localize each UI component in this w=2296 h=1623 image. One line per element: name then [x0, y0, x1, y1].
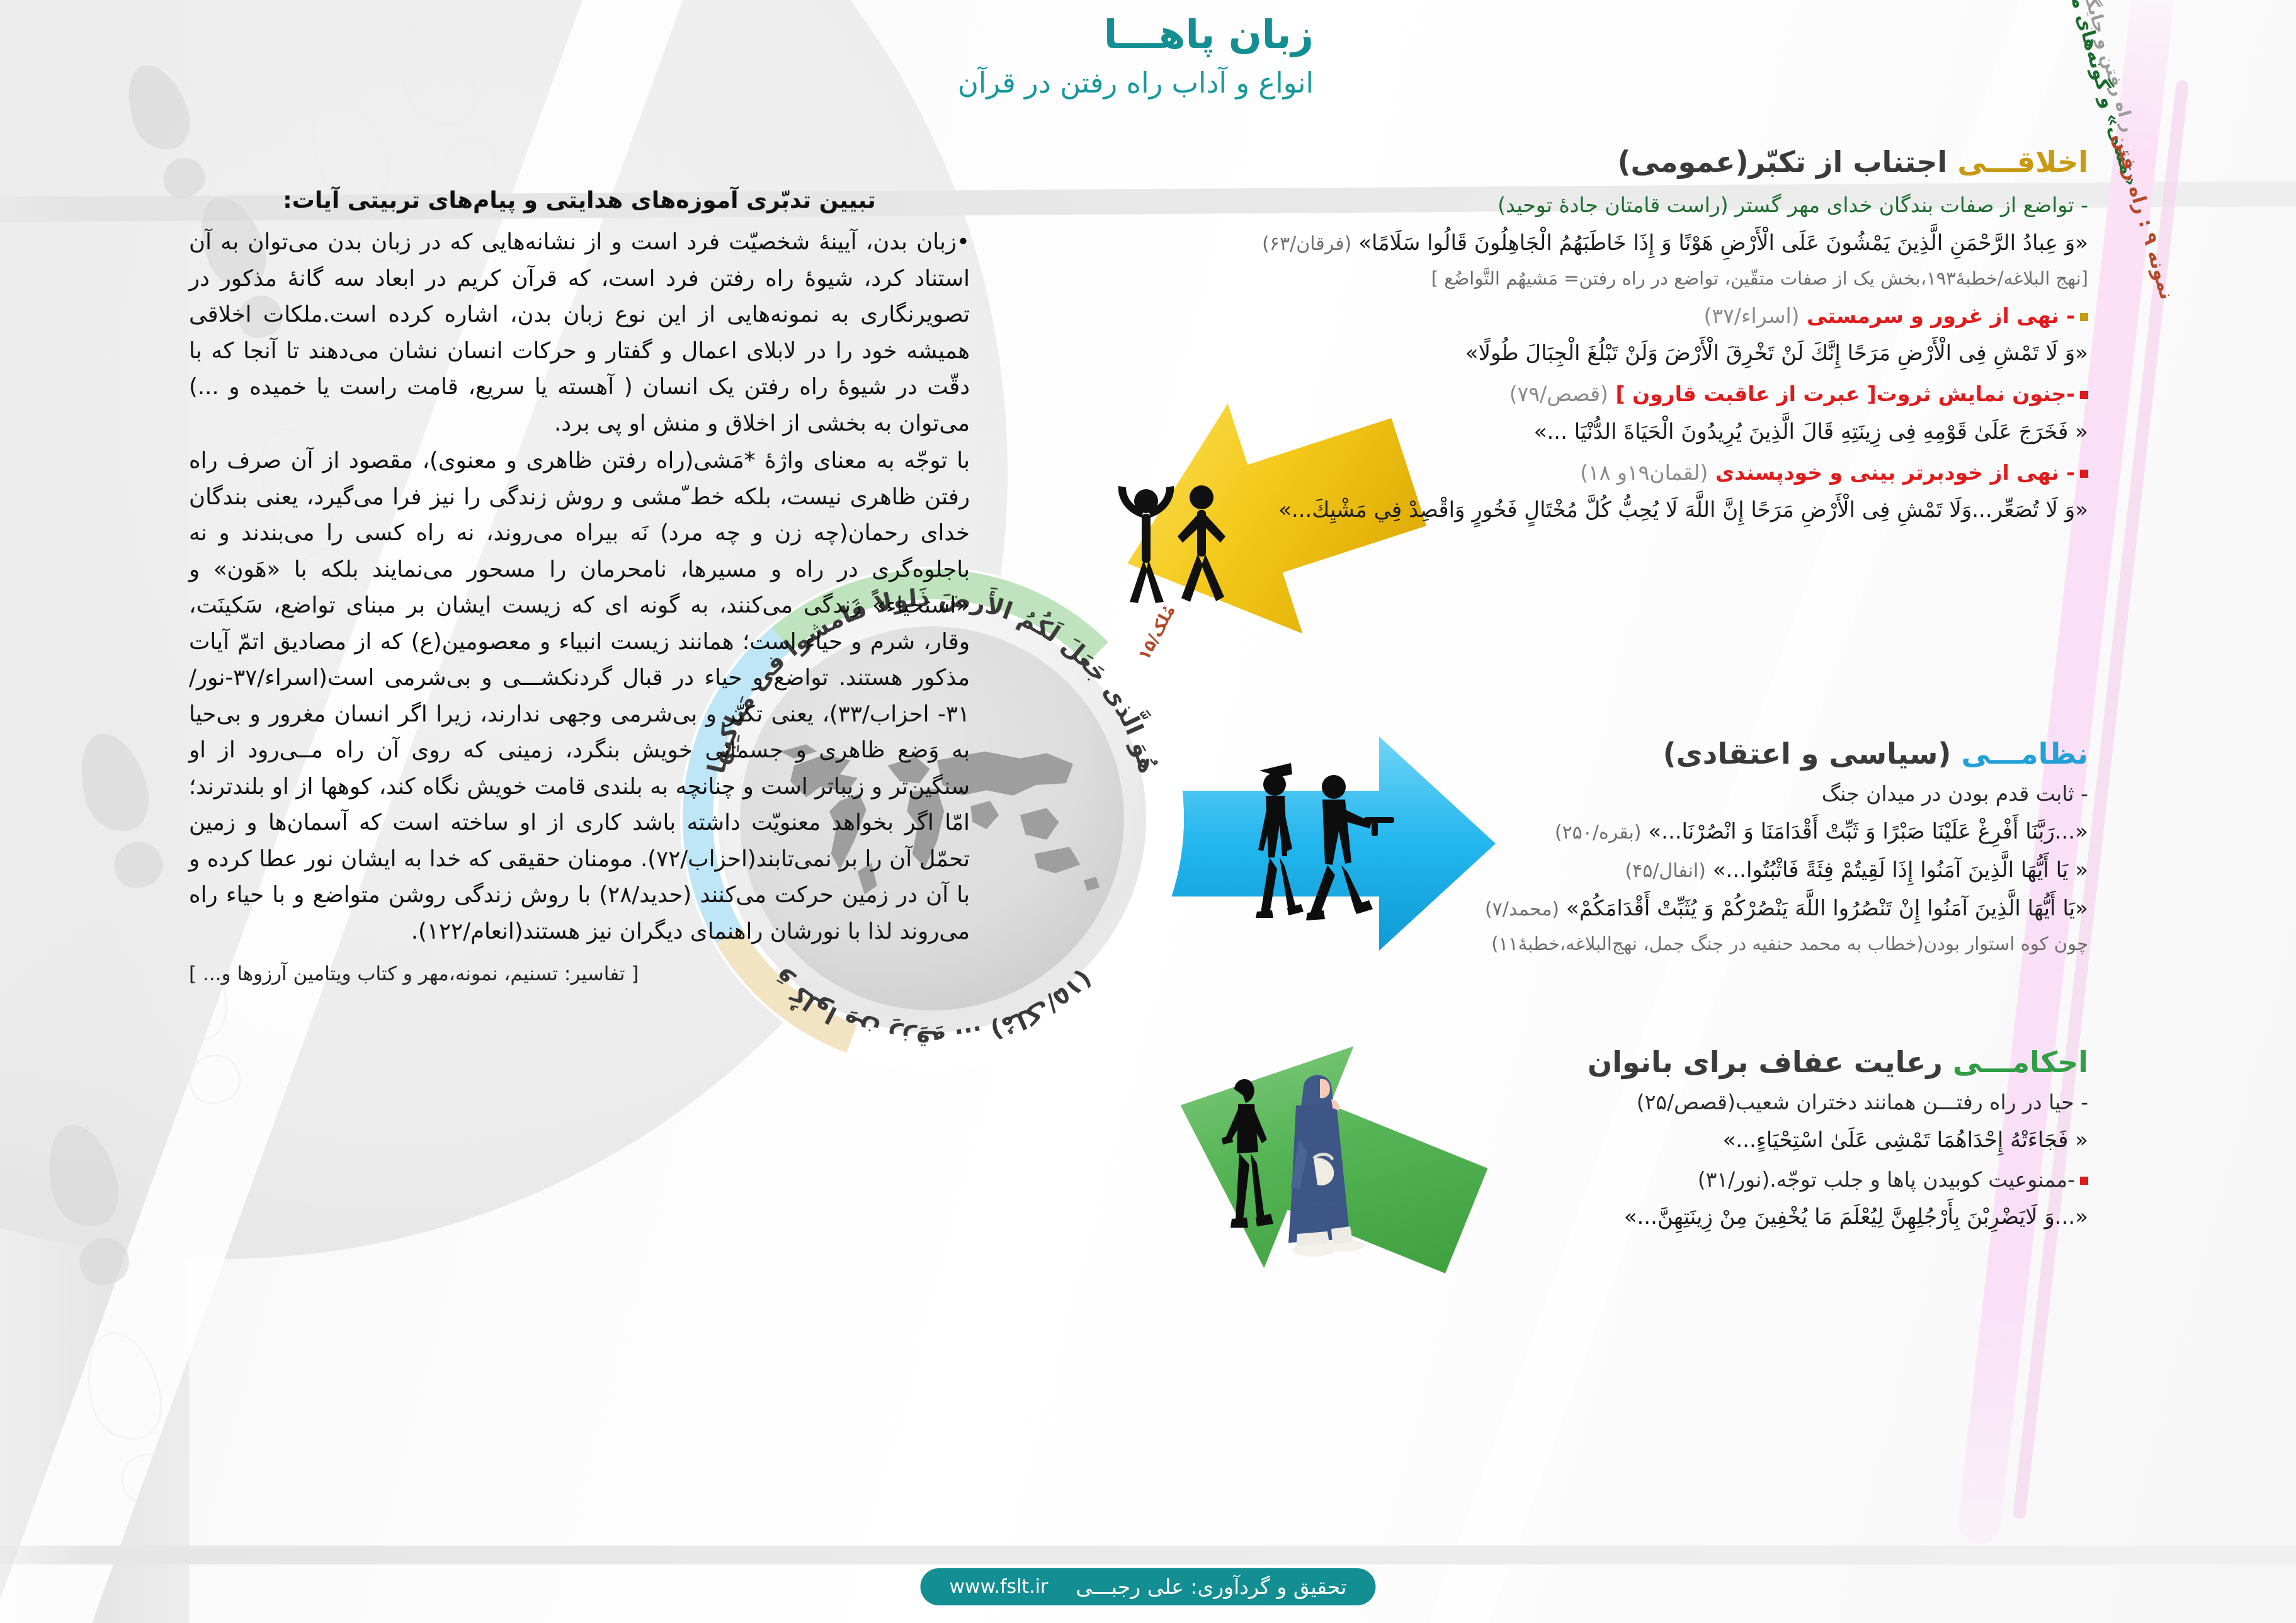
section-ethical-note: [نهج البلاغه/خطبهٔ۱۹۳،بخش یک از صفات متق…: [810, 266, 2088, 291]
section-military-note: چون کوه استوار بودن(خطاب به محمد حنفیه د…: [810, 931, 2088, 957]
section-rulings-item-2: -ممنوعیت کوبیدن پاها و جلب توجّه.(نور/۳۱…: [810, 1164, 2088, 1196]
section-ethical-verse-3: « فَخَرَجَ عَلَىٰ قَوْمِهِ فِى زِینَتِهِ…: [810, 416, 2088, 448]
section-military-item-0: - ثابت قدم بودن در میدان جنگ: [810, 778, 2088, 810]
section-military-title: (سیاسی و اعتقادی): [1663, 737, 1952, 771]
section-military-keyword: نظامـــی: [1961, 737, 2088, 771]
section-ethical-keyword: اخلاقـــی: [1957, 145, 2088, 179]
section-rulings-heading: احکامـــی رعایت عفاف برای بانوان: [810, 1045, 2088, 1079]
section-rulings-item-0: - حیا در راه رفتـــن همانند دختران شعیب(…: [810, 1087, 2088, 1118]
section-ethical-verse-2: «وَ لَا تَمْشِ فِى الْأَرْضِ مَرَحًا إِن…: [810, 337, 2088, 370]
section-rulings-title: رعایت عفاف برای بانوان: [1588, 1045, 1943, 1079]
footer-credit: تحقیق و گردآوری: علی رجبـــی: [1076, 1575, 1346, 1599]
section-military-verse-2: « یَا أَیُّهَا الَّذِینَ آمَنُوا إِذَا ل…: [810, 854, 2088, 886]
footer-bar: تحقیق و گردآوری: علی رجبـــی www.fslt.ir: [921, 1568, 1376, 1605]
analysis-sources: [ تفاسیر: تسنیم، نمونه،مهر و کتاب ویتامی…: [189, 958, 970, 990]
section-rulings-verse-1: « فَجَاءَتْهُ إِحْدَاهُمَا تَمْشِى عَلَى…: [810, 1124, 2088, 1156]
background-band-bottom: [0, 1546, 2296, 1564]
section-ethical-item-5: -جنون نمایش ثروت[ عبرت از عاقبت قارون ] …: [810, 378, 2088, 410]
page-header: زبان پاهـــا انواع و آداب راه رفتن در قر…: [958, 14, 1314, 99]
section-military-heading: نظامـــی (سیاسی و اعتقادی): [810, 737, 2088, 771]
section-rulings: احکامـــی رعایت عفاف برای بانوان - حیا د…: [810, 1045, 2088, 1233]
footer-url[interactable]: www.fslt.ir: [950, 1576, 1049, 1598]
section-ethical-heading: اخلاقـــی اجتناب از تکبّر(عمومی): [810, 145, 2088, 179]
section-ethical: اخلاقـــی اجتناب از تکبّر(عمومی) - تواضع…: [810, 145, 2088, 526]
section-rulings-keyword: احکامـــی: [1953, 1045, 2088, 1079]
section-ethical-verse-1: «وَ عِبادُ الرَّحْمَنِ الَّذِینَ یَمْشُو…: [810, 227, 2088, 259]
page-subtitle: انواع و آداب راه رفتن در قرآن: [958, 66, 1314, 99]
section-ethical-item-3: - نهی از غرور و سرمستی (اسراء/۳۷): [810, 300, 2088, 332]
section-ethical-item-0: - تواضع از صفات بندگان خدای مهر گستر (را…: [810, 189, 2088, 221]
page-title: زبان پاهـــا: [958, 14, 1314, 55]
section-military-verse-3: «یَا أَیُّهَا الَّذِینَ آمَنُوا إِنْ تَن…: [810, 893, 2088, 925]
section-ethical-verse-4: «وَ لَا تُصَعِّر...وَلَا تَمْشِ فِى الْأ…: [810, 494, 2088, 526]
section-rulings-verse-2: «...وَ لَایَضْرِبْنَ بِأَرْجُلِهِنَّ لِی…: [810, 1201, 2088, 1233]
section-military: نظامـــی (سیاسی و اعتقادی) - ثابت قدم بو…: [810, 737, 2088, 956]
section-military-verse-1: «...رَبَّنَا أَفْرِغْ عَلَیْنَا صَبْرًا …: [810, 816, 2088, 848]
section-ethical-title: اجتناب از تکبّر(عمومی): [1617, 145, 1947, 179]
section-ethical-item-7: - نهی از خودبرتر بینی و خودپسندی (لقمان۱…: [810, 457, 2088, 489]
